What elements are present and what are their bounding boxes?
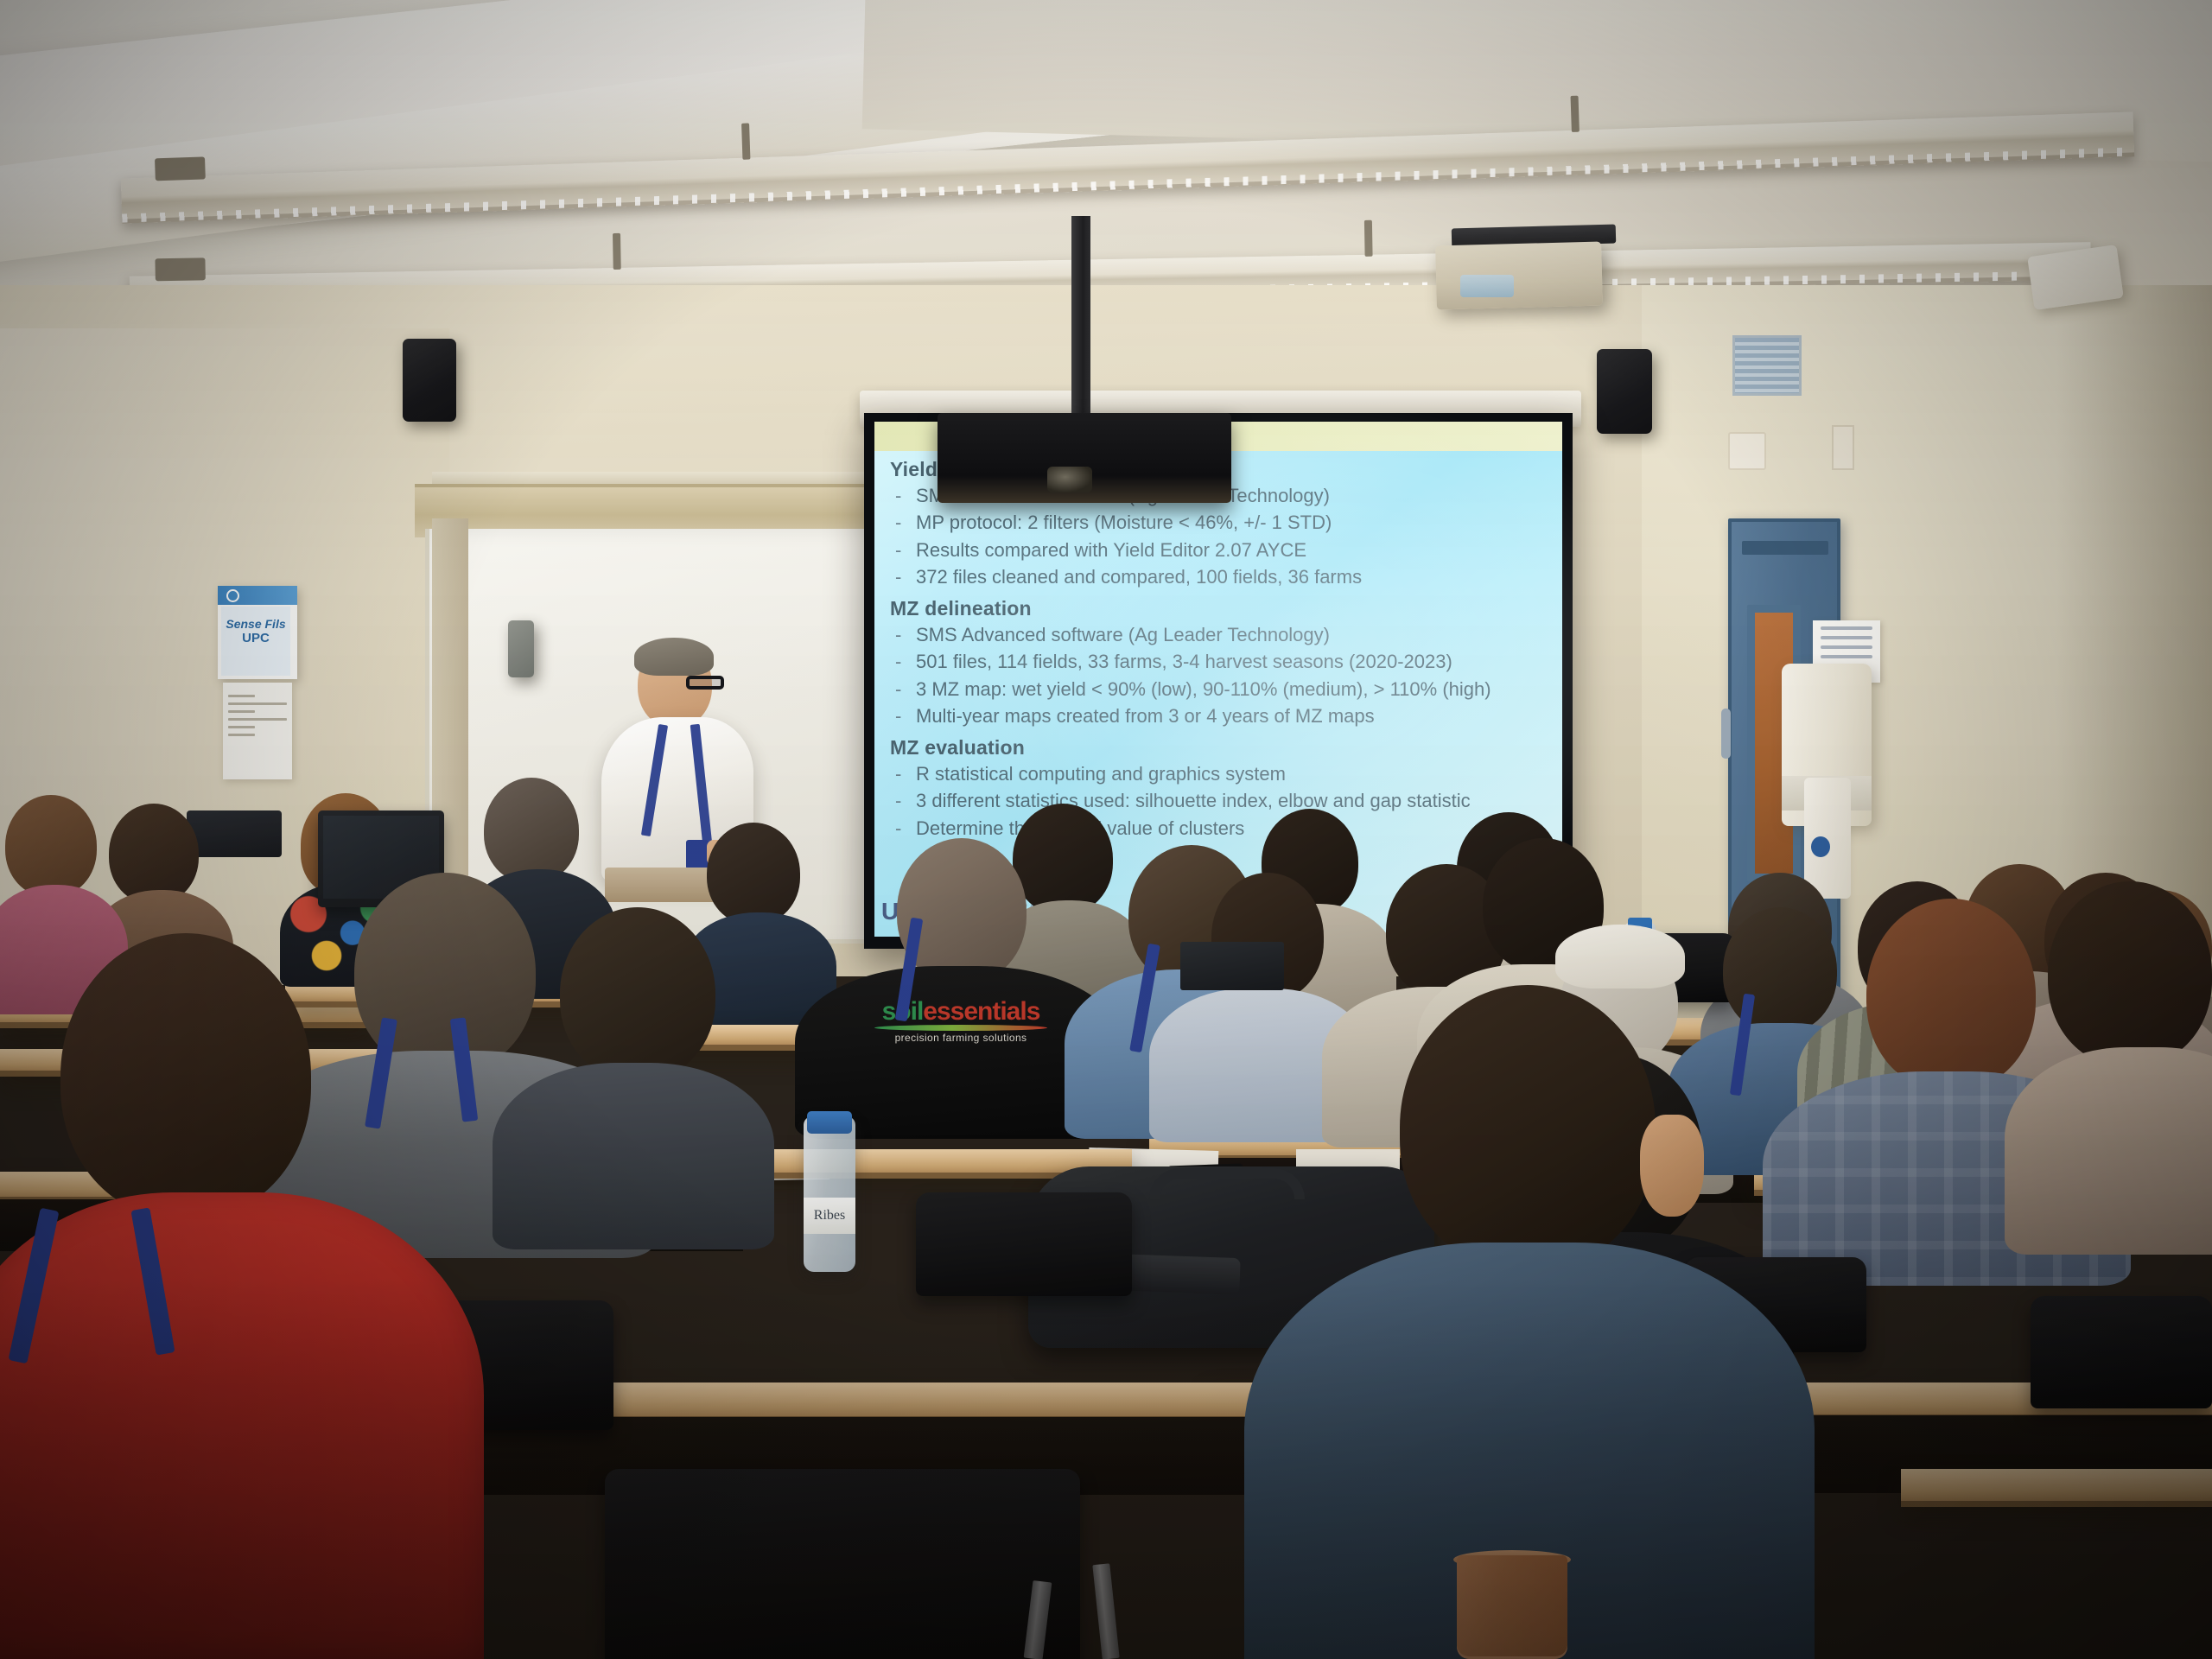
shirt-logo-tagline: precision farming solutions [874, 1033, 1047, 1043]
projector-lens [1460, 275, 1514, 297]
wall-speaker-right [1597, 349, 1652, 434]
attendee-head [1866, 899, 2036, 1090]
water-bottle-brand: Ribes [814, 1208, 845, 1224]
notice-sheet [223, 683, 292, 779]
desk-front-far-right [1901, 1469, 2212, 1507]
bullet-marker: - [895, 816, 906, 841]
water-bottle-ribes [804, 1116, 855, 1272]
light-rail-hanger [1364, 220, 1373, 257]
attendee-torso [2005, 1047, 2212, 1255]
bullet-marker: - [895, 483, 906, 508]
slide-bullet: - 3 MZ map: wet yield < 90% (low), 90-11… [895, 677, 1552, 702]
attendee-red-shirt-front-left [0, 933, 484, 1659]
slide-bullet: - R statistical computing and graphics s… [895, 761, 1552, 786]
slide-bullet: - Multi-year maps created from 3 or 4 ye… [895, 703, 1552, 728]
attendee-head [2048, 881, 2212, 1066]
bullet-marker: - [895, 537, 906, 563]
bullet-marker: - [895, 510, 906, 535]
sheet-text-line [228, 702, 287, 705]
light-rail-bracket [155, 257, 205, 281]
attendee-hand-on-chin [1640, 1115, 1704, 1217]
wifi-poster-line2: UPC [221, 631, 290, 645]
shirt-logo-part2: essentials [923, 997, 1039, 1026]
slide-bullet: - 501 files, 114 fields, 33 farms, 3-4 h… [895, 649, 1552, 674]
bullet-text: 372 files cleaned and compared, 100 fiel… [916, 564, 1362, 589]
attendee-head [1400, 985, 1656, 1270]
sheet-text-line [228, 710, 255, 713]
attendee-dark-left [493, 907, 778, 1244]
sign-text-line [1821, 626, 1872, 630]
door-top-bar [1742, 541, 1828, 555]
sheet-text-line [228, 718, 287, 721]
light-rail-hanger [741, 123, 750, 159]
bullet-marker: - [895, 622, 906, 647]
projector-arm-knob [1047, 467, 1092, 493]
water-bottle-label: Ribes [804, 1198, 855, 1234]
wall-vent [1732, 335, 1802, 396]
info-icon [226, 589, 239, 602]
sheet-text-line [228, 726, 255, 728]
door-handle[interactable] [1721, 709, 1731, 759]
laptop-center [1180, 942, 1284, 990]
bullet-marker: - [895, 677, 906, 702]
wall-socket[interactable] [1728, 432, 1766, 470]
attendee-head [60, 933, 311, 1218]
bullet-text: Results compared with Yield Editor 2.07 … [916, 537, 1306, 563]
chair-front-center [605, 1469, 1080, 1659]
sign-text-line [1821, 645, 1872, 649]
wall-speaker-left [403, 339, 456, 422]
bullet-text: SMS Advanced software (Ag Leader Technol… [916, 622, 1330, 647]
glasses-icon [686, 676, 724, 690]
bullet-text: R statistical computing and graphics sys… [916, 761, 1286, 786]
wall-socket-secondary[interactable] [1832, 425, 1854, 470]
lecture-hall-photo: Sense Fils UPC nes using corn silage yie… [0, 0, 2212, 1659]
presenter-hair [634, 638, 714, 676]
small-grey-speaker [508, 620, 534, 677]
bullet-text: 501 files, 114 fields, 33 farms, 3-4 har… [916, 649, 1452, 674]
shirt-logo-swoosh [874, 1025, 1047, 1031]
bullet-text: MP protocol: 2 filters (Moisture < 46%, … [916, 510, 1332, 535]
water-bottle-cap [807, 1111, 852, 1134]
chair-mid-row [916, 1192, 1132, 1296]
wifi-poster-body: Sense Fils UPC [221, 607, 290, 676]
bullet-text: 3 MZ map: wet yield < 90% (low), 90-110%… [916, 677, 1491, 702]
sign-text-line [1821, 636, 1872, 639]
attendee-torso [0, 1192, 484, 1659]
light-rail-hanger [1571, 96, 1580, 132]
baseball-cap [1555, 925, 1685, 988]
slide-bullet: - MP protocol: 2 filters (Moisture < 46%… [895, 510, 1552, 535]
attendee-head [484, 778, 579, 883]
sign-text-line [1821, 655, 1872, 658]
slide-bullet: - Results compared with Yield Editor 2.0… [895, 537, 1552, 563]
light-rail-hanger [613, 233, 621, 270]
slide-heading-mz-delineation: MZ delineation [890, 597, 1552, 620]
wifi-poster-line1: Sense Fils [221, 617, 290, 631]
attendee-head [5, 795, 97, 897]
wifi-poster: Sense Fils UPC [218, 586, 297, 679]
chair-leg [1092, 1563, 1119, 1659]
slide-bullet: - 372 files cleaned and compared, 100 fi… [895, 564, 1552, 589]
bullet-text: Multi-year maps created from 3 or 4 year… [916, 703, 1375, 728]
bullet-marker: - [895, 788, 906, 813]
coffee-cup [1457, 1555, 1567, 1659]
bullet-marker: - [895, 761, 906, 786]
attendee-head [560, 907, 715, 1080]
light-rail-bracket [155, 156, 206, 181]
sheet-text-line [228, 695, 255, 697]
attendee-torso [493, 1063, 774, 1249]
slide-bullet: - SMS Advanced software (Ag Leader Techn… [895, 622, 1552, 647]
projector-arm-bracket [1071, 216, 1090, 422]
slide-heading-mz-evaluation: MZ evaluation [890, 736, 1552, 760]
wifi-poster-header [218, 586, 297, 605]
chair-right-row [2031, 1296, 2212, 1408]
bullet-marker: - [895, 649, 906, 674]
sanitizer-push-button[interactable] [1811, 836, 1830, 857]
sheet-text-line [228, 734, 255, 736]
slide-body: Yield data processing - SMS Advanced sof… [890, 451, 1552, 842]
attendee-edge-right-b [2013, 881, 2212, 1244]
bullet-marker: - [895, 564, 906, 589]
bullet-marker: - [895, 703, 906, 728]
